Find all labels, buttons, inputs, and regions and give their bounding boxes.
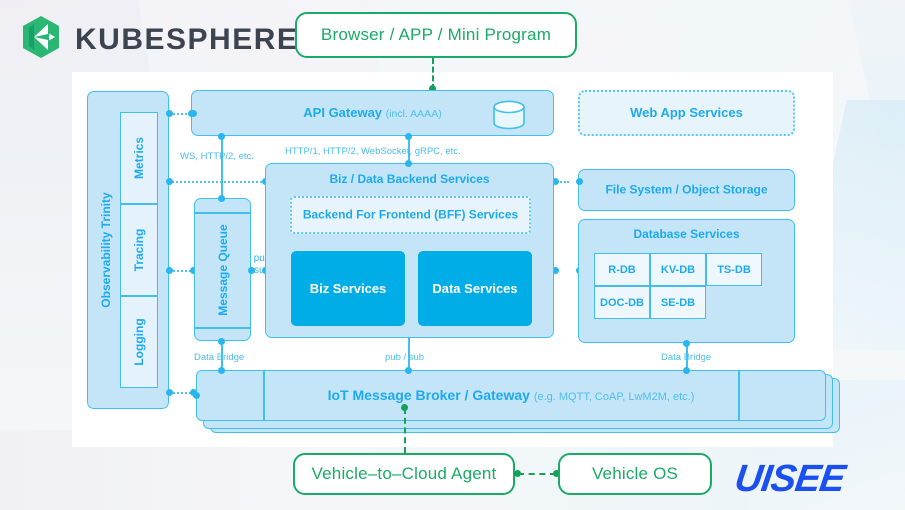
vehicle-os-label: Vehicle OS <box>592 464 678 484</box>
diagram-canvas: KUBESPHERE Browser / APP / Mini Program … <box>0 0 905 510</box>
connector-dot <box>514 470 521 477</box>
connector-gateway-to-mq <box>221 136 223 198</box>
db-cell-label: KV-DB <box>661 264 695 276</box>
caption-ws-http2: WS, HTTP/2, etc. <box>180 151 254 162</box>
db-cell-label: DOC-DB <box>600 297 644 309</box>
vehicle-os-box[interactable]: Vehicle OS <box>558 453 712 495</box>
data-services-box[interactable]: Data Services <box>418 251 532 326</box>
caption-http-protocols: HTTP/1, HTTP/2, WebSocket, gRPC, etc. <box>285 146 461 157</box>
db-cell-ts-db[interactable]: TS-DB <box>706 253 762 286</box>
connector-dot <box>218 195 225 202</box>
uisee-logo: UISEE <box>732 458 847 501</box>
observability-trinity-label: Observability Trinity <box>99 192 113 307</box>
db-cell-doc-db[interactable]: DOC-DB <box>594 286 650 319</box>
connector-dot <box>166 389 173 396</box>
db-cell-se-db[interactable]: SE-DB <box>650 286 706 319</box>
connector-dot <box>683 367 690 374</box>
caption-data-bridge-left: Data Bridge <box>194 352 244 363</box>
connector-dot <box>166 267 173 274</box>
connector-dot <box>193 392 200 399</box>
message-queue-divider <box>195 212 250 214</box>
connector-iot-to-agent <box>404 408 406 453</box>
connector-dot <box>405 367 412 374</box>
observability-item-label: Metrics <box>132 137 146 179</box>
connector-agent-to-vehicle-os <box>518 473 556 475</box>
connector-dot <box>218 338 225 345</box>
iot-broker-divider <box>263 371 265 420</box>
bff-services-label: Backend For Frontend (BFF) Services <box>292 208 529 223</box>
backend-services-title: Biz / Data Backend Services <box>266 172 553 186</box>
kubesphere-wordmark: KUBESPHERE <box>75 23 298 57</box>
file-system-box[interactable]: File System / Object Storage <box>578 169 795 211</box>
db-cell-r-db[interactable]: R-DB <box>594 253 650 286</box>
iot-broker-label: IoT Message Broker / Gateway (e.g. MQTT,… <box>197 387 825 405</box>
connector-dot <box>166 178 173 185</box>
biz-services-label: Biz Services <box>291 280 405 296</box>
db-cell-label: TS-DB <box>717 264 751 276</box>
connector-dot <box>405 160 412 167</box>
db-cell-label: R-DB <box>608 264 636 276</box>
connector-dot <box>218 367 225 374</box>
web-app-services-label: Web App Services <box>580 105 793 121</box>
client-box[interactable]: Browser / APP / Mini Program <box>295 12 577 58</box>
connector-dot <box>576 178 583 185</box>
database-services-title: Database Services <box>579 227 794 241</box>
message-queue-box[interactable]: Message Queue <box>194 198 251 341</box>
connector-dot <box>683 340 690 347</box>
vehicle-to-cloud-agent-label: Vehicle–to–Cloud Agent <box>312 464 497 484</box>
caption-pub-sub-bottom: pub / sub <box>385 352 424 363</box>
iot-broker-divider <box>738 371 740 420</box>
connector-dot <box>218 133 225 140</box>
observability-item-label: Tracing <box>132 229 146 272</box>
connector-dot <box>166 110 173 117</box>
vehicle-to-cloud-agent-box[interactable]: Vehicle–to–Cloud Agent <box>293 453 515 495</box>
observability-item-label: Logging <box>132 318 146 365</box>
bff-services-box[interactable]: Backend For Frontend (BFF) Services <box>290 196 531 234</box>
db-cell-label: SE-DB <box>661 297 695 309</box>
data-services-label: Data Services <box>418 280 532 296</box>
connector-dot <box>188 110 195 117</box>
connector-dot <box>405 133 412 140</box>
iot-broker-box[interactable]: IoT Message Broker / Gateway (e.g. MQTT,… <box>196 370 826 421</box>
message-queue-divider <box>195 327 250 329</box>
kubesphere-logo: KUBESPHERE <box>18 14 298 65</box>
file-system-label: File System / Object Storage <box>579 183 794 198</box>
database-cylinder-icon <box>491 100 527 135</box>
kubesphere-mark-icon <box>18 14 64 65</box>
observability-item-logging[interactable]: Logging <box>120 296 158 388</box>
biz-services-box[interactable]: Biz Services <box>291 251 405 326</box>
caption-data-bridge-right: Data Bridge <box>661 352 711 363</box>
observability-item-metrics[interactable]: Metrics <box>120 112 158 204</box>
message-queue-label: Message Queue <box>216 224 230 315</box>
observability-item-tracing[interactable]: Tracing <box>120 204 158 296</box>
web-app-services-box[interactable]: Web App Services <box>578 90 795 136</box>
client-box-label: Browser / APP / Mini Program <box>321 25 551 45</box>
db-cell-kv-db[interactable]: KV-DB <box>650 253 706 286</box>
api-gateway-box[interactable]: API Gateway (incl. AAAA) <box>191 90 554 136</box>
